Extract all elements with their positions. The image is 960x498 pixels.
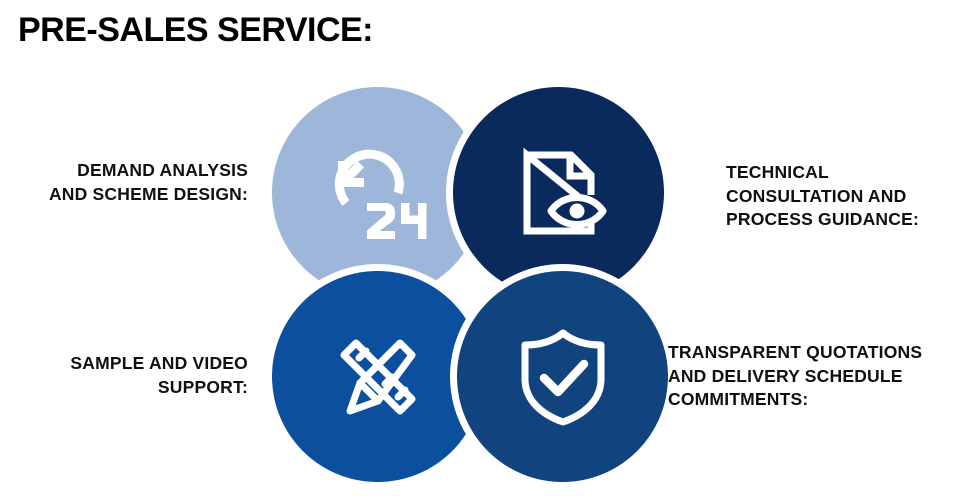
label-line: DEMAND ANALYSIS <box>8 159 248 183</box>
circle-sample-video-support[interactable] <box>272 271 483 482</box>
label-line: TRANSPARENT QUOTATIONS <box>668 341 960 365</box>
circle-demand-analysis[interactable] <box>272 87 483 298</box>
circle-transparent-quotations[interactable] <box>457 271 668 482</box>
label-line: AND SCHEME DESIGN: <box>8 183 248 207</box>
pen-ruler-design-icon <box>328 327 428 427</box>
label-line: AND DELIVERY SCHEDULE <box>668 365 960 389</box>
shield-check-icon <box>517 327 609 427</box>
label-line: CONSULTATION AND <box>726 185 958 209</box>
label-line: PROCESS GUIDANCE: <box>726 208 958 232</box>
label-line: SAMPLE AND VIDEO <box>8 352 248 376</box>
infographic-canvas: PRE-SALES SERVICE: <box>0 0 960 498</box>
label-line: SUPPORT: <box>8 376 248 400</box>
label-transparent-quotations: TRANSPARENT QUOTATIONS AND DELIVERY SCHE… <box>668 341 960 412</box>
label-line: COMMITMENTS: <box>668 388 960 412</box>
page-title: PRE-SALES SERVICE: <box>18 12 373 49</box>
circle-technical-consultation[interactable] <box>453 87 664 298</box>
label-technical-consultation: TECHNICAL CONSULTATION AND PROCESS GUIDA… <box>726 161 958 232</box>
label-line: TECHNICAL <box>726 161 958 185</box>
label-sample-video-support: SAMPLE AND VIDEO SUPPORT: <box>8 352 248 399</box>
document-eye-icon <box>511 145 607 241</box>
24-hour-rotate-icon <box>326 147 430 239</box>
label-demand-analysis: DEMAND ANALYSIS AND SCHEME DESIGN: <box>8 159 248 206</box>
